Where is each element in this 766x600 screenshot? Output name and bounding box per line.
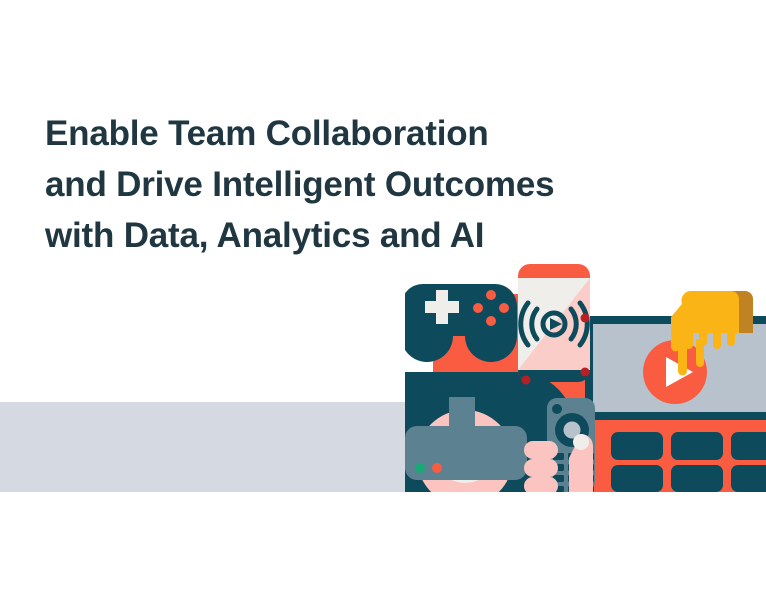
led-green-icon (415, 463, 425, 473)
headline-line-3: with Data, Analytics and AI (45, 210, 665, 261)
page-canvas: Enable Team Collaboration and Drive Inte… (0, 0, 766, 600)
headline-line-1: Enable Team Collaboration (45, 108, 665, 159)
headline-line-2: and Drive Intelligent Outcomes (45, 159, 665, 210)
led-red-icon (432, 463, 442, 473)
page-title: Enable Team Collaboration and Drive Inte… (45, 108, 665, 261)
hand-fingers (524, 441, 558, 492)
media-and-devices-illustration (405, 262, 766, 492)
